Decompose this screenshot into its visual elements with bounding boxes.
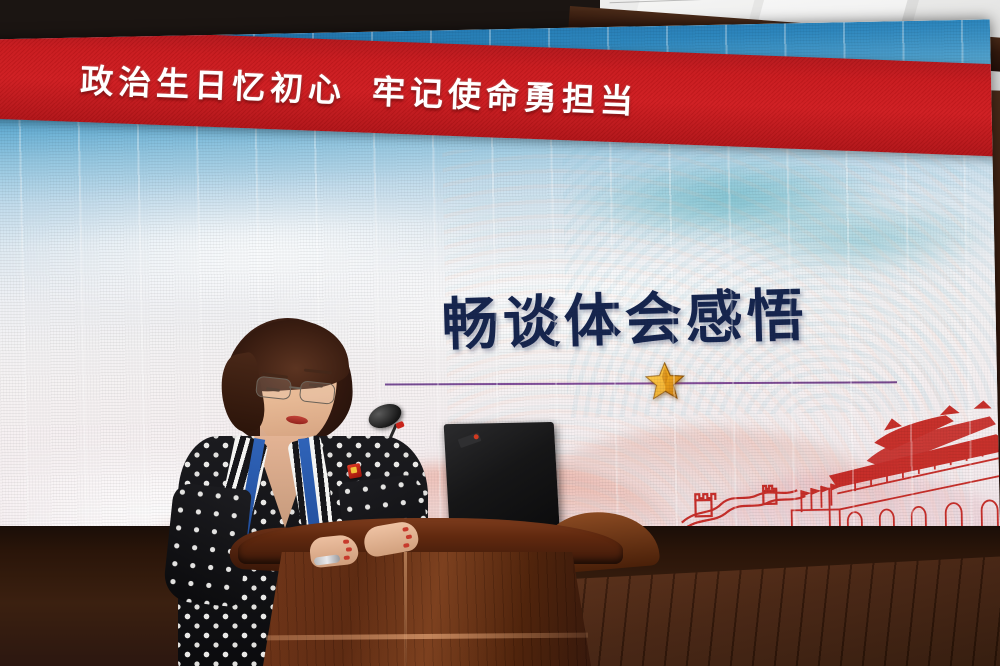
screenshot-root: 畅谈体会感悟: [0, 0, 1000, 666]
lectern-body: [262, 552, 592, 666]
fingernail: [346, 547, 352, 552]
wooden-lectern: [238, 506, 623, 666]
thinkpad-logo-icon: [458, 432, 482, 448]
scene-description: Party political birthday meeting — speak…: [0, 0, 1, 1]
cpc-party-member-pin: [347, 463, 362, 479]
fingernail: [402, 527, 409, 532]
lens-left: [255, 376, 292, 401]
slide-title: 畅谈体会感悟: [441, 270, 809, 362]
fingernail: [403, 543, 410, 548]
gold-star-ornament: [645, 362, 686, 401]
wood-grain: [262, 552, 592, 666]
fingernail: [406, 534, 413, 539]
lens-right: [299, 380, 336, 405]
banner-text-right: 牢记使命勇担当: [371, 72, 638, 121]
lectern-corner-highlight: [404, 552, 407, 666]
banner-text-left: 政治生日忆初心: [80, 61, 347, 110]
fingernail: [344, 555, 350, 560]
fingernail: [343, 539, 349, 544]
